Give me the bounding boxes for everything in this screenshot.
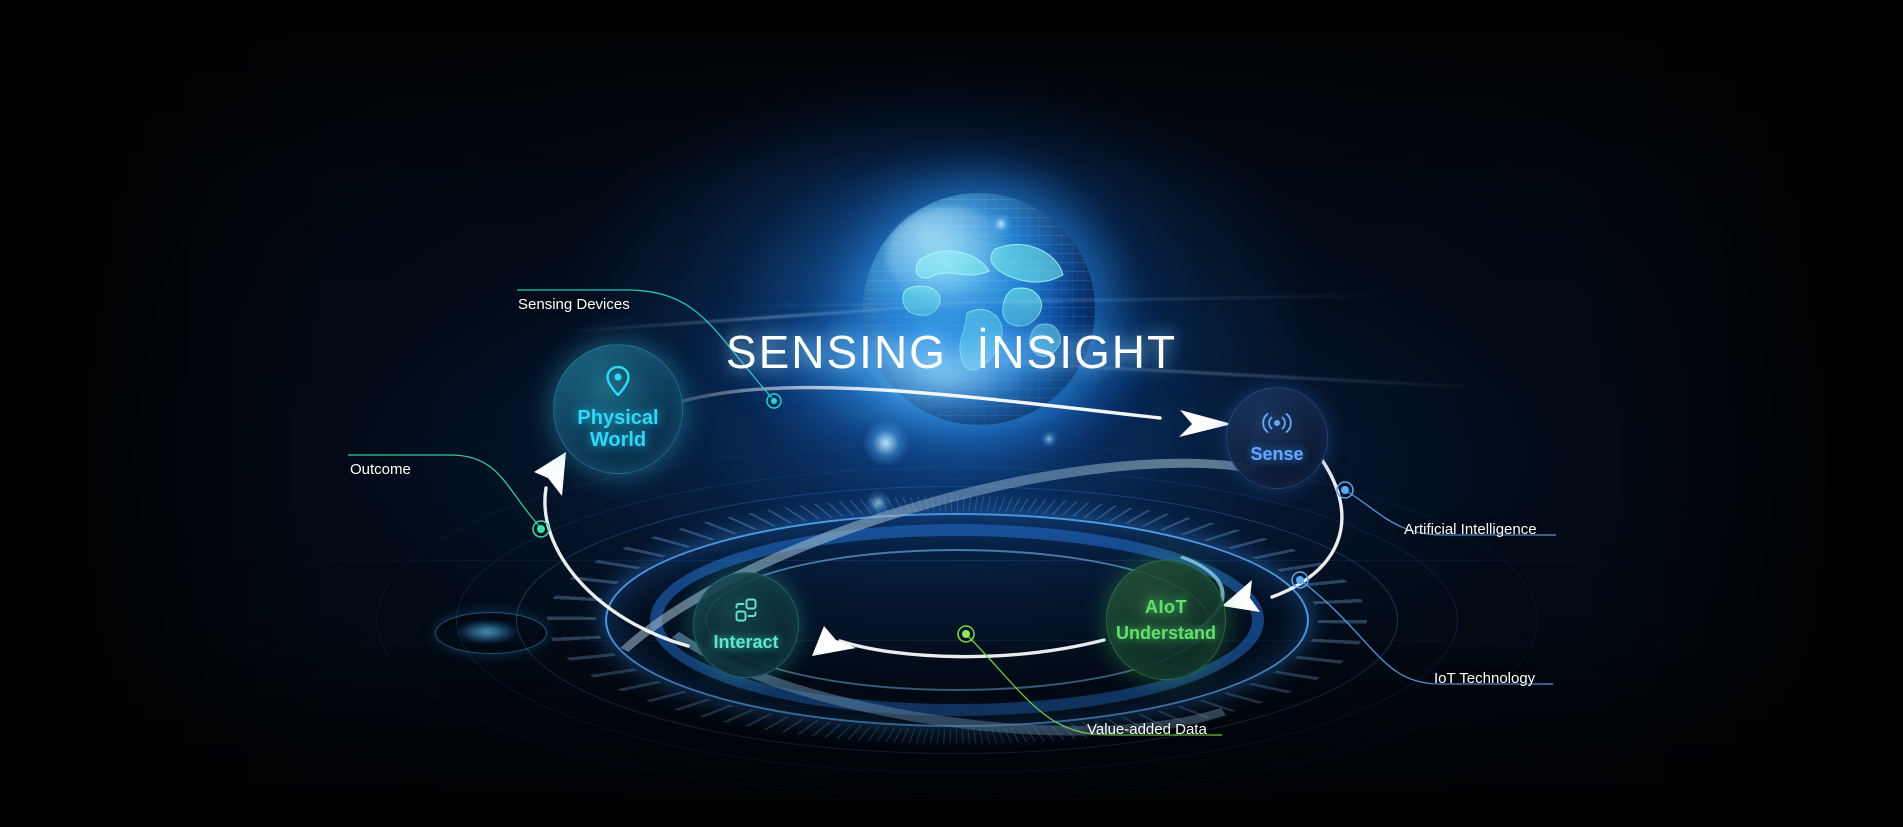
- lens-artifact-core: [457, 621, 517, 643]
- callout-text: Outcome: [350, 461, 411, 478]
- callout-outcome: Outcome: [350, 461, 411, 478]
- left-letterbox: [0, 0, 45, 827]
- map-pin-icon: [606, 366, 630, 402]
- callout-artificial-intelligence: Artificial Intelligence: [1404, 521, 1537, 538]
- node-interact[interactable]: Interact: [693, 572, 799, 678]
- node-label: Physical World: [577, 407, 658, 453]
- callout-sensing-devices: Sensing Devices: [518, 296, 630, 313]
- node-sense[interactable]: Sense: [1226, 387, 1328, 489]
- callout-value-added-data: Value-added Data: [1087, 721, 1207, 738]
- callout-text: Value-added Data: [1087, 721, 1207, 738]
- callout-text: IoT Technology: [1434, 670, 1535, 687]
- callout-text: Artificial Intelligence: [1404, 521, 1537, 538]
- exchange-blocks-icon: [734, 598, 758, 627]
- node-sublabel: AIoT: [1145, 597, 1187, 618]
- node-physical-world[interactable]: Physical World: [553, 344, 683, 474]
- lens-flare: [863, 420, 909, 466]
- aiot-gear-icon: AIoT: [1145, 597, 1187, 618]
- page-title: SENSING İNSIGHT: [0, 325, 1903, 379]
- lens-flare: [1040, 430, 1058, 448]
- callout-iot-technology: IoT Technology: [1434, 670, 1535, 687]
- floor-line: [245, 705, 1645, 706]
- node-label: Understand: [1116, 623, 1216, 644]
- lens-flare: [865, 490, 891, 516]
- floor-line: [165, 640, 1745, 641]
- floor-line: [105, 560, 1805, 561]
- node-label: Sense: [1250, 444, 1303, 465]
- scene-backdrop: [45, 0, 1868, 827]
- callout-text: Sensing Devices: [518, 296, 630, 313]
- hud-tick-ring: [547, 496, 1367, 744]
- globe-base-glow: [745, 300, 1145, 460]
- right-letterbox: [1868, 0, 1903, 827]
- lens-flare: [990, 213, 1012, 235]
- node-understand[interactable]: AIoT Understand: [1106, 560, 1226, 680]
- infographic-stage: SENSING İNSIGHT Physical World Sense AIo…: [0, 0, 1903, 827]
- signal-waves-icon: [1262, 412, 1292, 439]
- hud-ring-outer-4: [516, 486, 1398, 754]
- node-label: Interact: [713, 632, 778, 653]
